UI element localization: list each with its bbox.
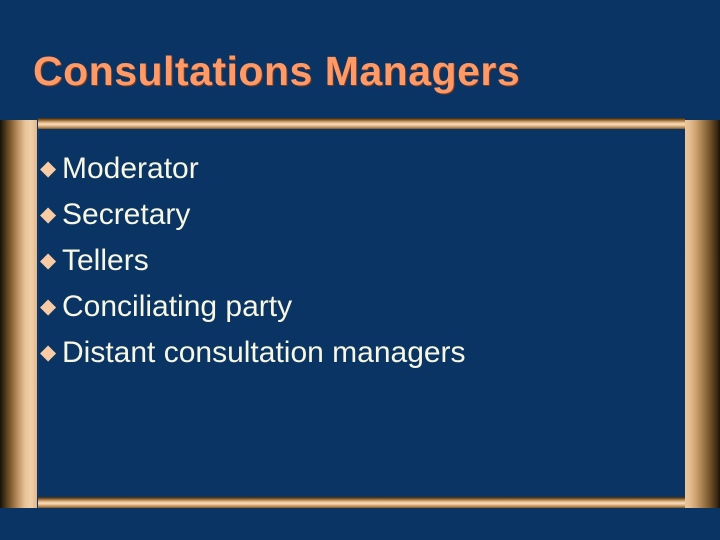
list-item: ◆ Distant consultation managers — [40, 330, 680, 375]
list-item-label: Distant consultation managers — [62, 330, 680, 375]
list-item: ◆ Secretary — [40, 192, 680, 237]
diamond-bullet-icon: ◆ — [40, 192, 62, 237]
diamond-bullet-icon: ◆ — [40, 238, 62, 283]
presentation-slide: Consultations Managers ◆ Moderator ◆ Sec… — [0, 0, 720, 540]
page-title: Consultations Managers — [33, 44, 520, 98]
frame-border-bottom — [38, 497, 685, 508]
diamond-bullet-icon: ◆ — [40, 284, 62, 329]
list-item: ◆ Tellers — [40, 238, 680, 283]
diamond-bullet-icon: ◆ — [40, 146, 62, 191]
list-item-label: Secretary — [62, 192, 680, 237]
list-item: ◆ Conciliating party — [40, 284, 680, 329]
list-item-label: Tellers — [62, 238, 680, 283]
bullet-list: ◆ Moderator ◆ Secretary ◆ Tellers ◆ Conc… — [40, 146, 680, 491]
frame-border-right — [685, 120, 720, 508]
frame-border-left — [0, 120, 37, 508]
list-item-label: Conciliating party — [62, 284, 680, 329]
slide-title-area: Consultations Managers — [0, 44, 720, 106]
frame-border-top — [38, 118, 685, 129]
list-item: ◆ Moderator — [40, 146, 680, 191]
diamond-bullet-icon: ◆ — [40, 330, 62, 375]
list-item-label: Moderator — [62, 146, 680, 191]
